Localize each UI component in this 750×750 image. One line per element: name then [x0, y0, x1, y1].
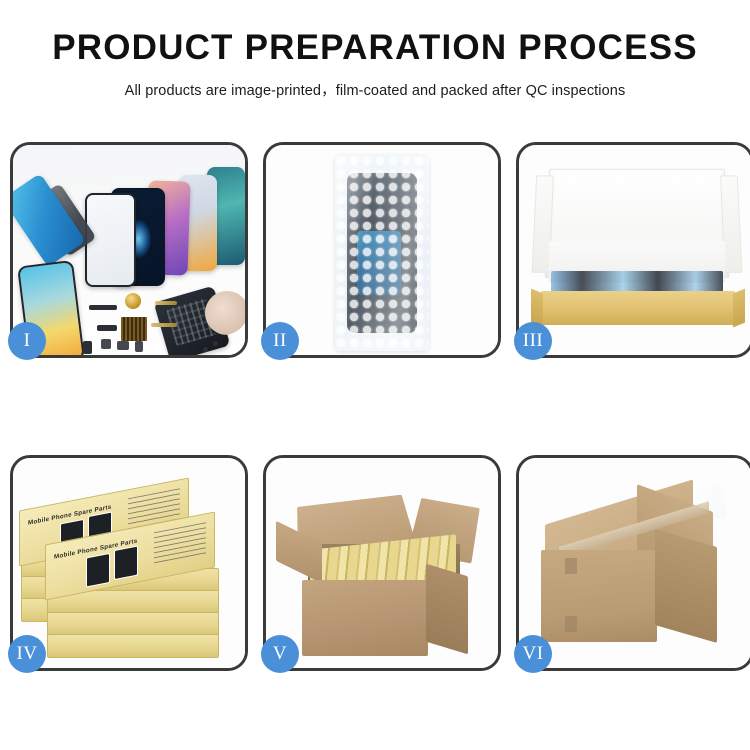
part-ic-grid — [121, 317, 147, 341]
scene-products — [13, 145, 245, 355]
step-panel-5[interactable]: V — [263, 455, 501, 671]
carton-seam-bottom — [565, 616, 577, 632]
product-preparation-infographic: PRODUCT PREPARATION PROCESS All products… — [0, 0, 750, 750]
scene-open-carton — [266, 458, 498, 668]
stacked-box-edge-8 — [47, 634, 219, 658]
step-badge-1: I — [8, 322, 46, 360]
part-screw-2 — [213, 341, 218, 346]
part-flex-cable-1 — [155, 301, 177, 305]
scene-sealed-carton — [519, 458, 750, 668]
part-vibrator — [135, 341, 143, 352]
plastic-sheen — [335, 155, 429, 351]
part-sim-tray — [83, 341, 92, 354]
part-earpiece-mesh — [89, 305, 117, 310]
step-badge-6: VI — [514, 635, 552, 673]
mailer-box-base — [541, 291, 735, 325]
part-gold-coil — [125, 293, 141, 309]
carton-seam-top — [565, 558, 577, 574]
part-flex-cable-2 — [151, 323, 177, 327]
box-spec-lines-front — [154, 522, 206, 566]
bubble-wrap-sleeve — [335, 155, 429, 351]
stacked-box-edge-7 — [47, 612, 219, 636]
box-thumb-front-2 — [114, 545, 138, 580]
header: PRODUCT PREPARATION PROCESS All products… — [0, 30, 750, 100]
part-screw-1 — [203, 347, 208, 352]
box-thumb-front-1 — [86, 553, 110, 588]
part-chip-small — [101, 339, 111, 349]
step-panel-2[interactable]: II — [263, 142, 501, 358]
step-image-6 — [519, 458, 750, 668]
step-badge-3: III — [514, 322, 552, 360]
scene-mailer-box — [519, 145, 750, 355]
scene-bubble-wrap — [266, 145, 498, 355]
process-steps-grid: I II — [10, 142, 740, 671]
step-image-1 — [13, 145, 245, 355]
sealed-carton-front — [541, 550, 657, 642]
carton-front-face — [302, 580, 428, 656]
step-badge-4: IV — [8, 635, 46, 673]
hand-holding-part — [205, 291, 245, 335]
step-panel-1[interactable]: I — [10, 142, 248, 358]
page-subtitle: All products are image-printed，film-coat… — [0, 79, 750, 100]
step-panel-6[interactable]: VI — [516, 455, 750, 671]
part-connector-bar — [97, 325, 117, 331]
step-image-2 — [266, 145, 498, 355]
carton-side-face — [426, 564, 468, 655]
step-badge-5: V — [261, 635, 299, 673]
step-panel-4[interactable]: Mobile Phone Spare Parts Mobile Phone Sp… — [10, 455, 248, 671]
sealed-carton-side — [655, 529, 717, 643]
step-image-3 — [519, 145, 750, 355]
scene-box-stack: Mobile Phone Spare Parts Mobile Phone Sp… — [13, 458, 245, 668]
step-image-4: Mobile Phone Spare Parts Mobile Phone Sp… — [13, 458, 245, 668]
step-badge-2: II — [261, 322, 299, 360]
step-image-5 — [266, 458, 498, 668]
page-title: PRODUCT PREPARATION PROCESS — [0, 30, 750, 67]
step-panel-3[interactable]: III — [516, 142, 750, 358]
part-camera-module — [117, 341, 129, 350]
